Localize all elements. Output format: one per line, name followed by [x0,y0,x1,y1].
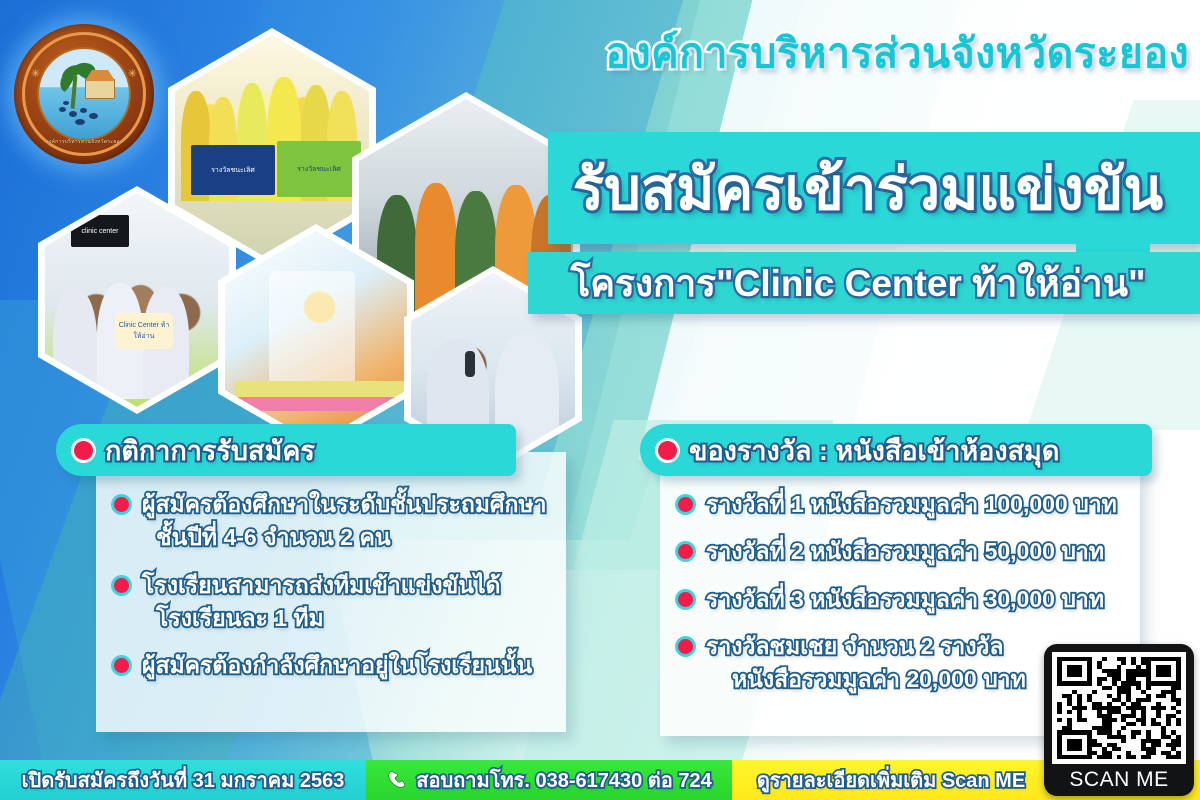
seal-outer-ring: ✳ ✳ องค์การบริหารส่วนจังหวัดระยอง [22,32,146,156]
pavilion-icon [85,79,115,99]
award-sign-green: รางวัลชนะเลิศ [277,141,361,197]
list-item: รางวัลที่ 1 หนังสือรวมมูลค่า 100,000 บาท [678,488,1124,521]
rock-icon [63,101,69,105]
list-item: ผู้สมัครต้องกำลังศึกษาอยู่ในโรงเรียนนั้น [114,649,550,682]
microphone-icon [465,351,475,377]
prize-line-1: รางวัลที่ 1 หนังสือรวมมูลค่า 100,000 บาท [706,491,1117,517]
scan-me-text: ดูรายละเอียดเพิ่มเติม Scan ME [757,764,1025,796]
prize-item-text: รางวัลที่ 3 หนังสือรวมมูลค่า 30,000 บาท [706,583,1104,616]
trophy-plaque-photo [225,231,407,443]
prize-item-text: รางวัลชมเชย จำนวน 2 รางวัล หนังสือรวมมูล… [706,630,1026,697]
bullet-dot-icon [678,544,693,559]
rock-icon [89,113,98,119]
prizes-heading-text: ของรางวัล : หนังสือเข้าห้องสมุด [689,429,1059,472]
rules-panel-heading: กติกาการรับสมัคร [56,424,516,476]
rock-icon [80,108,87,113]
rule-line-2: ชั้นปีที่ 4-6 จำนวน 2 คน [156,521,547,554]
rock-icon [59,107,66,112]
rule-line-1: ผู้สมัครต้องกำลังศึกษาอยู่ในโรงเรียนนั้น [142,652,532,678]
qr-code-card[interactable]: SCAN ME [1044,644,1194,796]
clinic-center-students-photo: clinic center Clinic Center ท้าให้อ่าน [45,193,229,407]
award-sign-blue: รางวัลชนะเลิศ [191,145,275,195]
qr-code-image [1052,652,1186,764]
list-item: รางวัลที่ 3 หนังสือรวมมูลค่า 30,000 บาท [678,583,1124,616]
rule-line-1: โรงเรียนสามารถส่งทีมเข้าแข่งขันได้ [142,572,500,598]
organization-seal-logo: ✳ ✳ องค์การบริหารส่วนจังหวัดระยอง [14,24,154,164]
bullet-dot-icon [114,658,129,673]
poster-canvas: ✳ ✳ องค์การบริหารส่วนจังหวัดระยอง [0,0,1200,800]
seal-emblem-scene [37,47,131,141]
rule-line-2: โรงเรียนละ 1 ทีม [156,602,500,635]
list-item: รางวัลที่ 2 หนังสือรวมมูลค่า 50,000 บาท [678,535,1124,568]
rock-icon [75,119,85,125]
deadline-text: เปิดรับสมัครถึงวันที่ 31 มกราคม 2563 [22,764,345,796]
footer-phone-segment[interactable]: สอบถามโทร. 038-617430 ต่อ 724 [366,760,732,800]
photo-books [235,397,405,411]
page-title: รับสมัครเข้าร่วมแข่งขัน [548,140,1188,236]
seal-star-icon: ✳ [128,69,137,80]
list-item: โรงเรียนสามารถส่งทีมเข้าแข่งขันได้ โรงเร… [114,569,550,636]
prize-item-text: รางวัลที่ 1 หนังสือรวมมูลค่า 100,000 บาท [706,488,1117,521]
prize-line-2: หนังสือรวมมูลค่า 20,000 บาท [732,663,1026,696]
rules-panel-body: ผู้สมัครต้องศึกษาในระดับชั้นประถมศึกษา ช… [96,452,566,732]
rules-heading-text: กติกาการรับสมัคร [105,429,315,472]
page-subtitle: โครงการ"Clinic Center ท้าให้อ่าน" [528,254,1188,312]
clinic-center-sign-dark: clinic center [71,215,129,247]
rock-icon [69,111,77,117]
rule-line-1: ผู้สมัครต้องศึกษาในระดับชั้นประถมศึกษา [142,491,547,517]
phone-text: สอบถามโทร. 038-617430 ต่อ 724 [416,764,711,796]
prize-line-1: รางวัลที่ 2 หนังสือรวมมูลค่า 50,000 บาท [706,538,1104,564]
heading-dot-icon [658,441,677,460]
heading-dot-icon [74,441,93,460]
bullet-dot-icon [678,497,693,512]
clinic-center-sign-round: Clinic Center ท้าให้อ่าน [115,313,173,349]
bullet-dot-icon [114,497,129,512]
prize-item-text: รางวัลที่ 2 หนังสือรวมมูลค่า 50,000 บาท [706,535,1104,568]
list-item: ผู้สมัครต้องศึกษาในระดับชั้นประถมศึกษา ช… [114,488,550,555]
bullet-dot-icon [678,639,693,654]
rule-item-text: ผู้สมัครต้องกำลังศึกษาอยู่ในโรงเรียนนั้น [142,649,532,682]
organization-header-title: องค์การบริหารส่วนจังหวัดระยอง [440,22,1195,84]
bullet-dot-icon [678,592,693,607]
phone-icon [386,769,408,791]
rule-item-text: ผู้สมัครต้องศึกษาในระดับชั้นประถมศึกษา ช… [142,488,547,555]
qr-code-label: SCAN ME [1052,764,1186,796]
prizes-panel-heading: ของรางวัล : หนังสือเข้าห้องสมุด [640,424,1152,476]
bullet-dot-icon [114,578,129,593]
prize-line-1: รางวัลชมเชย จำนวน 2 รางวัล [706,633,1003,659]
footer-bar: เปิดรับสมัครถึงวันที่ 31 มกราคม 2563 สอบ… [0,760,1200,800]
rule-item-text: โรงเรียนสามารถส่งทีมเข้าแข่งขันได้ โรงเร… [142,569,500,636]
prize-line-1: รางวัลที่ 3 หนังสือรวมมูลค่า 30,000 บาท [706,586,1104,612]
seal-rim-text: องค์การบริหารส่วนจังหวัดระยอง [25,138,143,146]
footer-deadline-segment: เปิดรับสมัครถึงวันที่ 31 มกราคม 2563 [0,760,366,800]
